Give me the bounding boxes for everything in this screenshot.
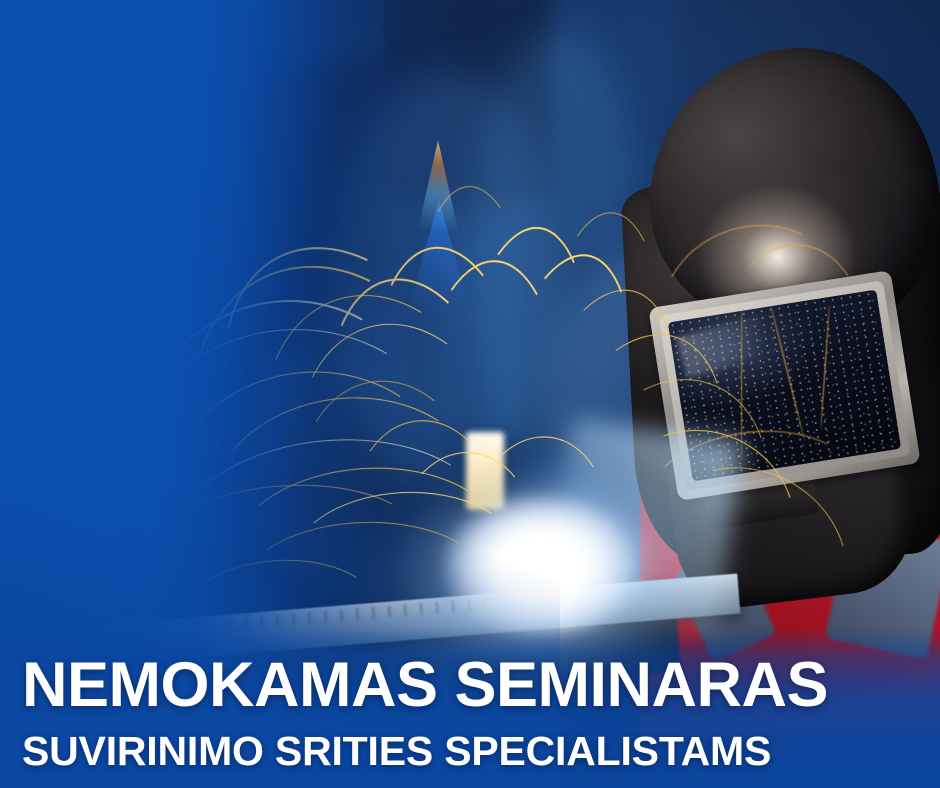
caption-band: NEMOKAMAS SEMINARAS SUVIRINIMO SRITIES S… — [0, 628, 940, 788]
banner-title: NEMOKAMAS SEMINARAS — [22, 654, 940, 717]
welding-seminar-banner: NEMOKAMAS SEMINARAS SUVIRINIMO SRITIES S… — [0, 0, 940, 788]
banner-subtitle: SUVIRINIMO SRITIES SPECIALISTAMS — [22, 731, 940, 772]
